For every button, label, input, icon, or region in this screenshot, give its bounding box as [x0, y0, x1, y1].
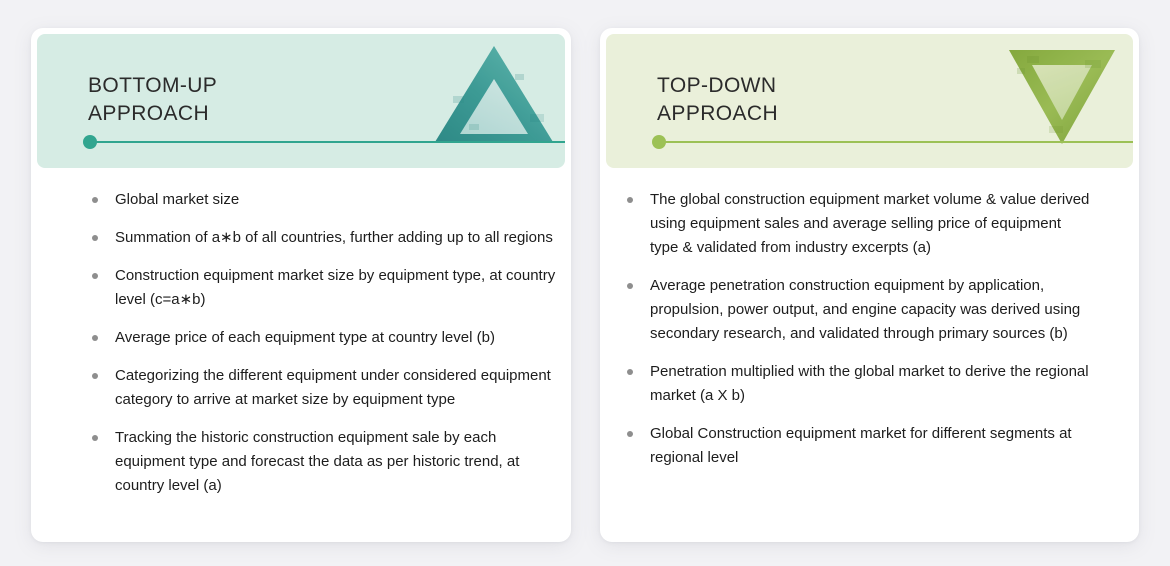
list-item: Global Construction equipment market for…	[622, 422, 1092, 470]
list-item-text: Summation of a∗b of all countries, furth…	[115, 226, 557, 250]
approach-card-top-down: TOP-DOWN APPROACH The global constructio…	[600, 28, 1139, 542]
list-item-text: Construction equipment market size by eq…	[115, 264, 557, 312]
card-title-top-down: TOP-DOWN APPROACH	[657, 72, 778, 128]
bullet-dot-icon	[92, 273, 98, 279]
list-item: Average penetration construction equipme…	[622, 274, 1092, 346]
list-item: Penetration multiplied with the global m…	[622, 360, 1092, 408]
bullet-dot-icon	[627, 369, 633, 375]
bullet-dot-icon	[92, 373, 98, 379]
list-item: Global market size	[87, 188, 557, 212]
list-item-text: Penetration multiplied with the global m…	[650, 360, 1092, 408]
accent-dot-bottom-up	[83, 135, 97, 149]
bullet-dot-icon	[92, 335, 98, 341]
list-item: Average price of each equipment type at …	[87, 326, 557, 350]
bullet-dot-icon	[92, 197, 98, 203]
bullet-dot-icon	[627, 197, 633, 203]
approach-card-bottom-up: BOTTOM-UP APPROACH Global market size Su…	[31, 28, 571, 542]
card-header-top-down: TOP-DOWN APPROACH	[606, 34, 1133, 168]
bullet-dot-icon	[627, 283, 633, 289]
bullet-dot-icon	[627, 431, 633, 437]
list-item-text: Average penetration construction equipme…	[650, 274, 1092, 346]
list-item-text: Tracking the historic construction equip…	[115, 426, 557, 498]
list-item-text: Global market size	[115, 188, 557, 212]
bullet-dot-icon	[92, 235, 98, 241]
accent-rule-bottom-up	[89, 141, 565, 143]
card-title-bottom-up: BOTTOM-UP APPROACH	[88, 72, 217, 128]
triangle-up-icon	[429, 34, 559, 168]
triangle-down-icon	[997, 34, 1127, 168]
list-item-text: Global Construction equipment market for…	[650, 422, 1092, 470]
accent-rule-top-down	[658, 141, 1133, 143]
accent-dot-top-down	[652, 135, 666, 149]
card-header-bottom-up: BOTTOM-UP APPROACH	[37, 34, 565, 168]
list-item-text: Average price of each equipment type at …	[115, 326, 557, 350]
list-item-text: Categorizing the different equipment und…	[115, 364, 557, 412]
bullet-list-bottom-up: Global market size Summation of a∗b of a…	[87, 188, 557, 498]
list-item: The global construction equipment market…	[622, 188, 1092, 260]
list-item: Construction equipment market size by eq…	[87, 264, 557, 312]
bullet-list-top-down: The global construction equipment market…	[622, 188, 1092, 470]
page-root: BOTTOM-UP APPROACH Global market size Su…	[0, 0, 1170, 566]
list-item: Summation of a∗b of all countries, furth…	[87, 226, 557, 250]
list-item: Tracking the historic construction equip…	[87, 426, 557, 498]
list-item: Categorizing the different equipment und…	[87, 364, 557, 412]
list-item-text: The global construction equipment market…	[650, 188, 1092, 260]
bullet-dot-icon	[92, 435, 98, 441]
